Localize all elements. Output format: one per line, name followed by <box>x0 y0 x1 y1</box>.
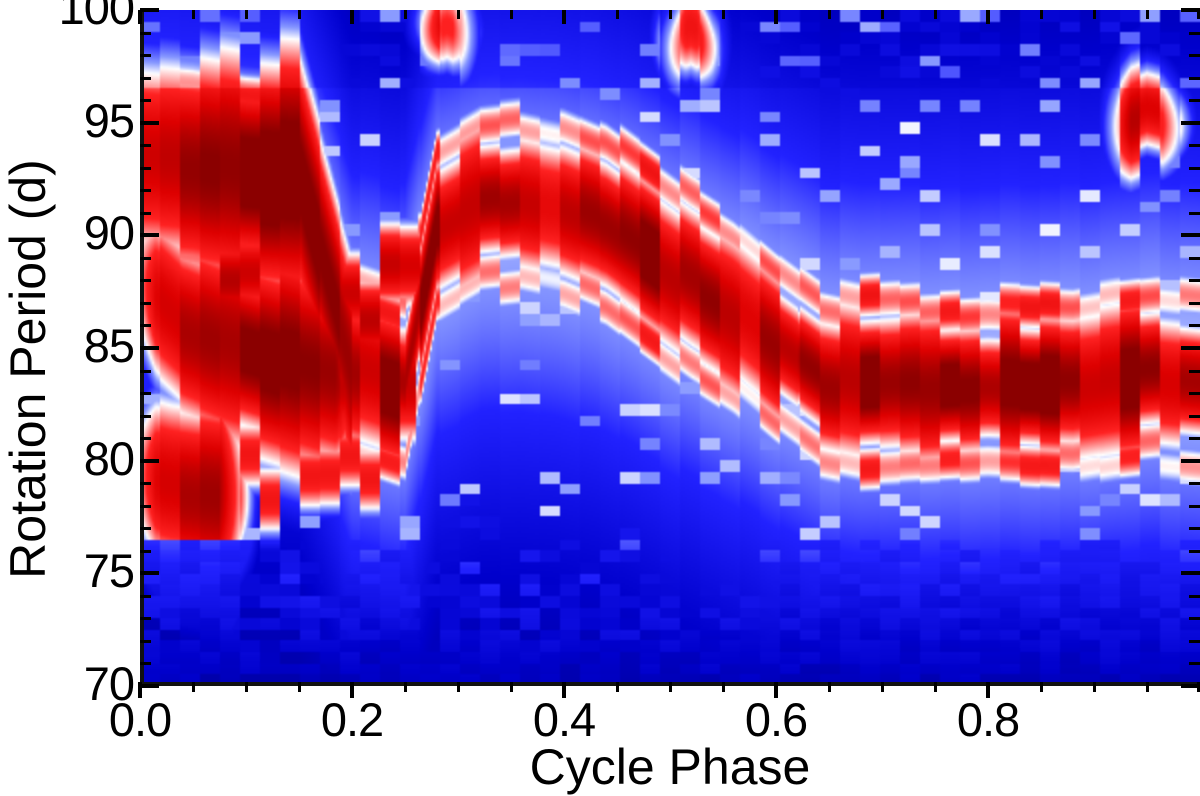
x-axis-label: Cycle Phase <box>140 738 1200 796</box>
y-tick-minor-right <box>1189 99 1200 102</box>
y-tick-minor <box>140 617 151 620</box>
y-tick-minor-right <box>1189 550 1200 553</box>
y-tick-minor <box>140 32 151 35</box>
y-tick-minor-right <box>1189 370 1200 373</box>
y-tick-minor-right <box>1189 257 1200 260</box>
y-tick-minor <box>140 77 151 80</box>
x-tick-minor-top <box>457 10 460 19</box>
y-tick-minor <box>140 415 151 418</box>
x-tick-minor <box>510 682 513 692</box>
y-tick-minor-right <box>1189 482 1200 485</box>
x-tick-minor <box>245 682 248 692</box>
y-tick-minor-right <box>1189 617 1200 620</box>
y-tick-minor <box>140 370 151 373</box>
x-tick-major-top <box>774 10 778 24</box>
y-tick-minor <box>140 505 151 508</box>
y-tick-major-right <box>1181 121 1200 125</box>
y-tick-major <box>140 8 159 12</box>
y-tick-minor <box>140 527 151 530</box>
x-tick-minor-top <box>881 10 884 19</box>
y-tick-label: 85 <box>84 318 134 373</box>
y-tick-major <box>140 233 159 237</box>
y-tick-minor-right <box>1189 77 1200 80</box>
x-tick-minor-top <box>616 10 619 19</box>
y-tick-label: 75 <box>84 543 134 598</box>
x-tick-minor <box>934 682 937 692</box>
y-tick-major <box>140 571 159 575</box>
x-tick-minor <box>616 682 619 692</box>
y-tick-major <box>140 459 159 463</box>
y-tick-label: 95 <box>84 93 134 148</box>
y-tick-label: 80 <box>84 431 134 486</box>
x-tick-minor <box>192 682 195 692</box>
y-tick-minor-right <box>1189 54 1200 57</box>
y-tick-minor-right <box>1189 189 1200 192</box>
x-tick-minor-top <box>510 10 513 19</box>
y-axis-label: Rotation Period (d) <box>0 19 57 719</box>
y-tick-minor <box>140 324 151 327</box>
y-tick-minor-right <box>1189 212 1200 215</box>
y-tick-label: 100 <box>59 0 134 35</box>
y-tick-minor-right <box>1189 324 1200 327</box>
y-tick-major-right <box>1181 459 1200 463</box>
x-tick-minor-top <box>669 10 672 19</box>
y-tick-minor-right <box>1189 302 1200 305</box>
x-tick-minor <box>298 682 301 692</box>
y-tick-minor-right <box>1189 662 1200 665</box>
y-tick-minor <box>140 167 151 170</box>
x-tick-minor-top <box>934 10 937 19</box>
y-tick-minor-right <box>1189 279 1200 282</box>
y-tick-minor <box>140 662 151 665</box>
x-tick-minor-top <box>722 10 725 19</box>
x-tick-minor <box>881 682 884 692</box>
x-tick-minor <box>1093 682 1096 692</box>
y-tick-label: 90 <box>84 205 134 260</box>
x-tick-minor-top <box>298 10 301 19</box>
y-tick-major-right <box>1181 571 1200 575</box>
y-tick-minor <box>140 279 151 282</box>
y-tick-minor <box>140 189 151 192</box>
x-tick-minor-top <box>1040 10 1043 19</box>
y-tick-minor <box>140 257 151 260</box>
heatmap-canvas <box>140 10 1200 686</box>
x-tick-minor-top <box>404 10 407 19</box>
y-tick-minor <box>140 144 151 147</box>
y-tick-minor-right <box>1189 640 1200 643</box>
x-tick-minor-top <box>1146 10 1149 19</box>
x-tick-minor <box>404 682 407 692</box>
x-tick-minor <box>1040 682 1043 692</box>
y-tick-minor-right <box>1189 527 1200 530</box>
x-tick-major-top <box>350 10 354 24</box>
y-tick-minor <box>140 99 151 102</box>
y-tick-minor <box>140 482 151 485</box>
y-tick-minor-right <box>1189 595 1200 598</box>
x-tick-minor <box>669 682 672 692</box>
x-tick-minor-top <box>245 10 248 19</box>
y-tick-major-right <box>1181 233 1200 237</box>
x-tick-major-top <box>562 10 566 24</box>
y-tick-major-right <box>1181 346 1200 350</box>
y-tick-major <box>140 346 159 350</box>
x-tick-major-top <box>986 10 990 24</box>
y-tick-major <box>140 121 159 125</box>
x-tick-minor-top <box>1093 10 1096 19</box>
y-tick-minor <box>140 437 151 440</box>
y-tick-minor-right <box>1189 144 1200 147</box>
y-tick-minor-right <box>1189 392 1200 395</box>
heatmap-plot-area <box>140 10 1200 686</box>
y-tick-minor-right <box>1189 437 1200 440</box>
x-tick-minor-top <box>828 10 831 19</box>
y-tick-minor <box>140 392 151 395</box>
y-tick-major <box>140 684 159 688</box>
y-tick-minor <box>140 302 151 305</box>
x-tick-minor <box>722 682 725 692</box>
y-tick-minor-right <box>1189 505 1200 508</box>
y-tick-minor <box>140 640 151 643</box>
x-tick-minor <box>828 682 831 692</box>
y-tick-minor-right <box>1189 167 1200 170</box>
periodogram-figure: 7075808590951000.00.20.40.60.8 Cycle Pha… <box>0 0 1200 796</box>
y-tick-minor-right <box>1189 415 1200 418</box>
y-tick-minor <box>140 212 151 215</box>
y-tick-minor-right <box>1189 32 1200 35</box>
x-tick-minor <box>1146 682 1149 692</box>
x-tick-minor-top <box>192 10 195 19</box>
y-tick-minor <box>140 54 151 57</box>
y-tick-minor <box>140 550 151 553</box>
y-tick-minor <box>140 595 151 598</box>
x-tick-major-top <box>138 10 142 24</box>
x-tick-minor <box>457 682 460 692</box>
